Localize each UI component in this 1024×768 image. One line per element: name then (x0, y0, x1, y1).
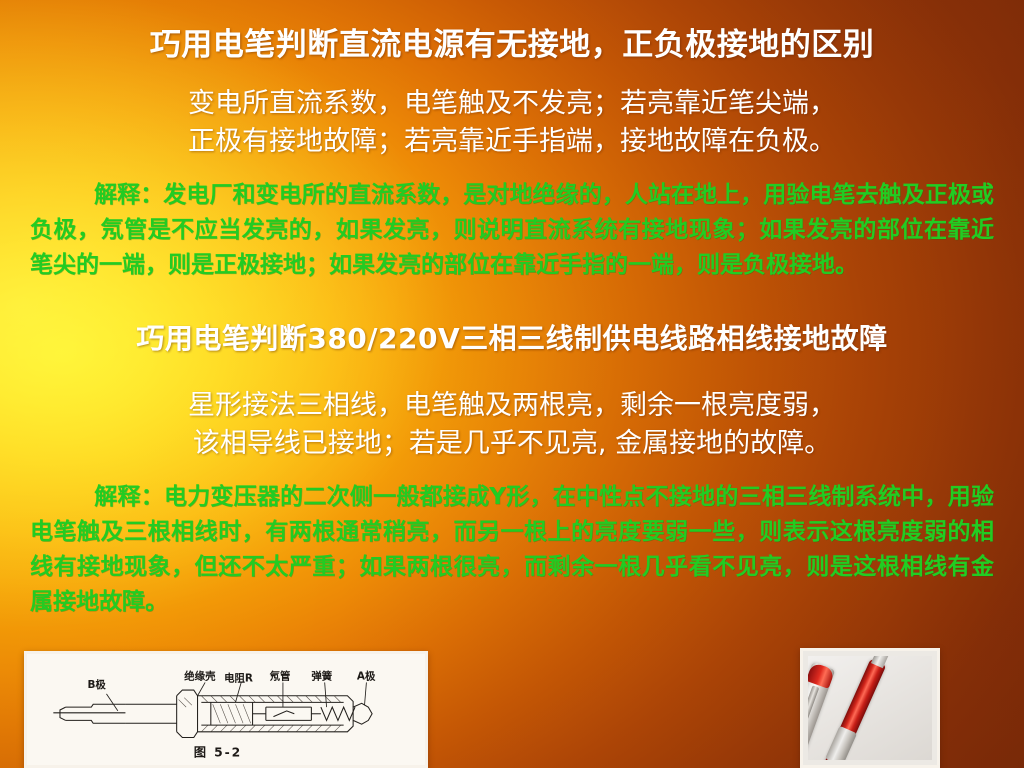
test-pen-photo (808, 656, 932, 760)
slide-content: 巧用电笔判断直流电源有无接地，正负极接地的区别 变电所直流系数，电笔触及不发亮；… (0, 0, 1024, 768)
verse-three-phase-line-1: 星形接法三相线，电笔触及两根亮，剩余一根亮度弱， (0, 387, 1024, 425)
test-pen-cutaway-svg: B极 绝缘壳 电阻R 氖管 弹簧 A极 图 5-2 (27, 654, 425, 765)
diagram-caption: 图 5-2 (194, 745, 242, 759)
verse-block-three-phase: 星形接法三相线，电笔触及两根亮，剩余一根亮度弱， 该相导线已接地；若是几乎不见亮… (0, 387, 1024, 463)
explanation-paragraph-three-phase: 解释：电力变压器的二次侧一般都接成Y形，在中性点不接地的三相三线制系统中，用验电… (30, 480, 994, 620)
test-pen-diagram-image: B极 绝缘壳 电阻R 氖管 弹簧 A极 图 5-2 (24, 651, 428, 768)
test-pen-left-clip (808, 685, 819, 753)
diagram-label-insulating-shell: 绝缘壳 (184, 670, 216, 683)
diagram-label-resistor: 电阻R (224, 672, 253, 685)
diagram-label-spring: 弹簧 (311, 670, 332, 683)
heading-three-phase-fault: 巧用电笔判断380/220V三相三线制供电线路相线接地故障 (0, 320, 1024, 358)
diagram-label-a-pole: A极 (357, 670, 376, 683)
explanation-paragraph-dc: 解释：发电厂和变电所的直流系数，是对地绝缘的，人站在地上，用验电笔去触及正极或负… (30, 178, 994, 283)
diagram-label-b-pole: B极 (87, 678, 106, 691)
verse-dc-line-2: 正极有接地故障；若亮靠近手指端，接地故障在负极。 (0, 123, 1024, 161)
heading-dc-ground-detection: 巧用电笔判断直流电源有无接地，正负极接地的区别 (0, 25, 1024, 65)
test-pen-right-metal-band (825, 726, 857, 760)
test-pen-right-tip (871, 656, 891, 668)
verse-dc-line-1: 变电所直流系数，电笔触及不发亮；若亮靠近笔尖端， (0, 85, 1024, 123)
verse-block-dc: 变电所直流系数，电笔触及不发亮；若亮靠近笔尖端， 正极有接地故障；若亮靠近手指端… (0, 85, 1024, 161)
verse-three-phase-line-2: 该相导线已接地；若是几乎不见亮, 金属接地的故障。 (0, 425, 1024, 463)
diagram-label-neon-tube: 氖管 (270, 670, 291, 683)
test-pen-photo-frame (800, 648, 940, 768)
